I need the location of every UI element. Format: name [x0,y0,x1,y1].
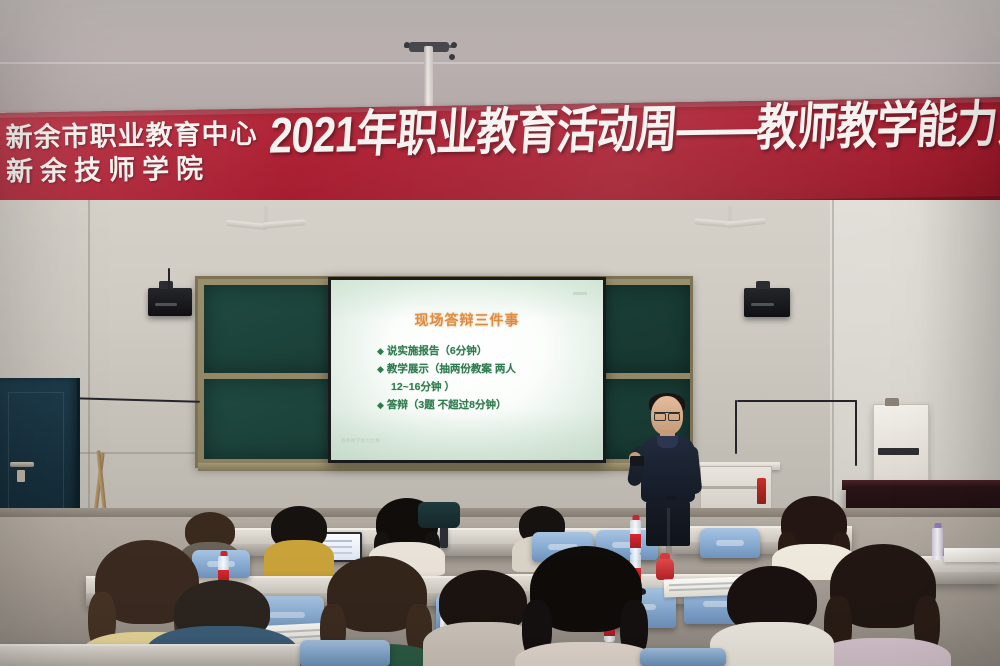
banner-main-text: 2021年职业教育活动周——教师教学能力比赛专家指导交流会 [268,101,1000,160]
ceiling-fan-right-rod [728,206,732,221]
speaker-left-cable [168,268,170,292]
bottle-cap [934,523,941,528]
speaker-left [148,288,192,316]
presenter-collar [657,436,678,448]
wall-cable-right-drop [855,400,857,466]
ceiling-seam [0,62,1000,64]
thermos-cap [660,553,670,559]
desk-row-front [0,644,300,666]
banner-org-line-1: 新余市职业教育中心 [5,120,257,152]
torso [710,622,834,666]
wall-cable-right-horiz [737,400,857,402]
red-thermos [656,558,674,580]
projector-knob-right [451,42,457,48]
door-panel [8,392,64,512]
wall-seam-1 [88,200,90,530]
slide-bullet-2: ◆教学展示（抽两份教案 两人 [377,360,597,378]
attendee-front-far-right [820,544,946,666]
slide-bullet-3: ◆答辩（3题 不超过8分钟） [377,396,597,414]
attendee-far-right [716,566,828,666]
slide-bullet-3-text: 答辩（3题 不超过8分钟） [387,399,507,411]
projector-knob-lower [449,54,455,60]
chair-handle-slot [716,540,745,546]
projector-pole [424,46,433,112]
backpack [418,502,460,528]
slide-bullet-list: ◆说实施报告（6分钟） ◆教学展示（抽两份教案 两人 12~16分钟 ） ◆答辩… [377,342,597,414]
classroom-photo-scene: 新余市职业教育中心 新余技师学院 2021年职业教育活动周——教师教学能力比赛专… [0,0,1000,666]
banner-organization: 新余市职业教育中心 新余技师学院 [5,120,258,186]
diamond-bullet-icon-3: ◆ [377,400,384,410]
chair-front-2[interactable] [640,648,726,666]
slide-corner-mark [573,292,587,295]
slide-surface: 现场答辩三件事 ◆说实施报告（6分钟） ◆教学展示（抽两份教案 两人 12~16… [331,280,603,460]
wall-cable-right-vert [735,400,737,454]
air-conditioner-vent [878,448,919,455]
ceiling [0,0,1000,112]
speaker-left-grille [155,303,177,306]
air-conditioner-top [885,398,899,406]
presenter [624,396,714,544]
door-handle[interactable] [10,462,34,467]
chalkboard-ledge [198,463,696,471]
presenter-leg-gap [667,508,670,546]
chair-front-1[interactable] [300,640,390,666]
fire-extinguisher [757,478,766,504]
slide-footer-watermark: 教师教学能力比赛 [341,438,380,444]
diamond-bullet-icon-1: ◆ [377,346,384,356]
door-lock-icon [17,470,25,482]
papers-side-desk [944,548,1000,562]
speaker-right-bracket [756,281,770,289]
banner-org-line-2: 新余技师学院 [6,154,258,186]
ceiling-fan-left-rod [264,206,268,222]
speaker-right-grille [751,303,774,306]
presenter-remote-device [630,456,644,466]
torso [515,642,657,666]
attendee-front-right [520,546,652,666]
slide-bullet-1: ◆说实施报告（6分钟） [377,342,597,360]
bottle-cap [220,551,227,556]
air-conditioner [873,404,929,482]
wall-seam-2 [832,200,834,530]
speaker-right [744,288,790,317]
glasses-icon [654,412,680,419]
torso [815,638,951,666]
slide-bullet-1-text: 说实施报告（6分钟） [387,345,487,357]
slide-bullet-2-continuation: 12~16分钟 ） [377,378,597,396]
slide-bullet-2-text: 教学展示（抽两份教案 两人 [387,363,516,375]
speaker-left-bracket [159,281,172,289]
slide-title: 现场答辩三件事 [331,310,603,330]
projection-screen: 现场答辩三件事 ◆说实施报告（6分钟） ◆教学展示（抽两份教案 两人 12~16… [328,277,606,463]
diamond-bullet-icon-2: ◆ [377,364,384,374]
